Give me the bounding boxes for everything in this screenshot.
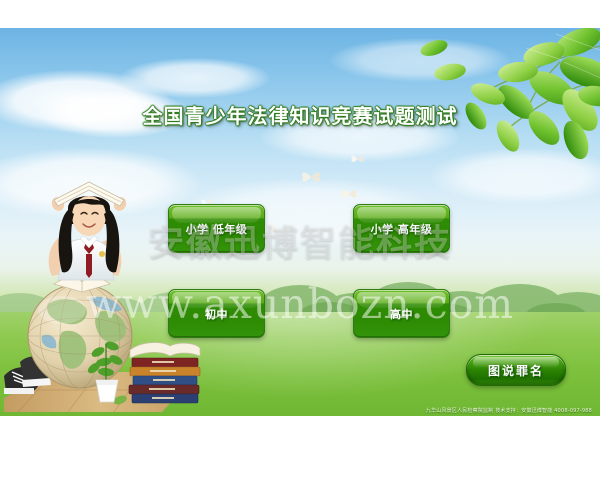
- cloud-decoration: [430, 148, 600, 204]
- grade-button-primary-high-label: 小学 高年级: [371, 221, 433, 237]
- grade-button-junior-high[interactable]: 初中: [168, 289, 265, 338]
- crime-gallery-button[interactable]: 图说罪名: [466, 354, 566, 386]
- grade-button-primary-high[interactable]: 小学 高年级: [353, 204, 450, 253]
- cloud-decoration: [120, 58, 270, 98]
- open-book-icon: [54, 278, 110, 292]
- butterfly-icon: [300, 170, 322, 184]
- butterfly-icon: [340, 188, 358, 200]
- grade-button-junior-high-label: 初中: [205, 306, 228, 322]
- grade-button-group: 小学 低年级 小学 高年级 初中 高中: [168, 204, 448, 336]
- grade-button-primary-low[interactable]: 小学 低年级: [168, 204, 265, 253]
- page-frame: 全国青少年法律知识竞赛试题测试: [0, 0, 600, 488]
- grade-button-senior-high[interactable]: 高中: [353, 289, 450, 338]
- page-title: 全国青少年法律知识竞赛试题测试: [0, 100, 600, 129]
- app-canvas: 全国青少年法律知识竞赛试题测试: [0, 28, 600, 416]
- crime-gallery-button-label: 图说罪名: [488, 362, 544, 379]
- cloud-decoration: [330, 38, 510, 82]
- student-icon: [49, 182, 129, 280]
- butterfly-icon: [350, 154, 365, 164]
- footer-credit: 九华山风景区人民检察院监制 技术支持：安徽迅博智能 4008-097-988: [426, 407, 592, 414]
- grade-button-primary-low-label: 小学 低年级: [186, 221, 248, 237]
- grade-button-senior-high-label: 高中: [390, 306, 413, 322]
